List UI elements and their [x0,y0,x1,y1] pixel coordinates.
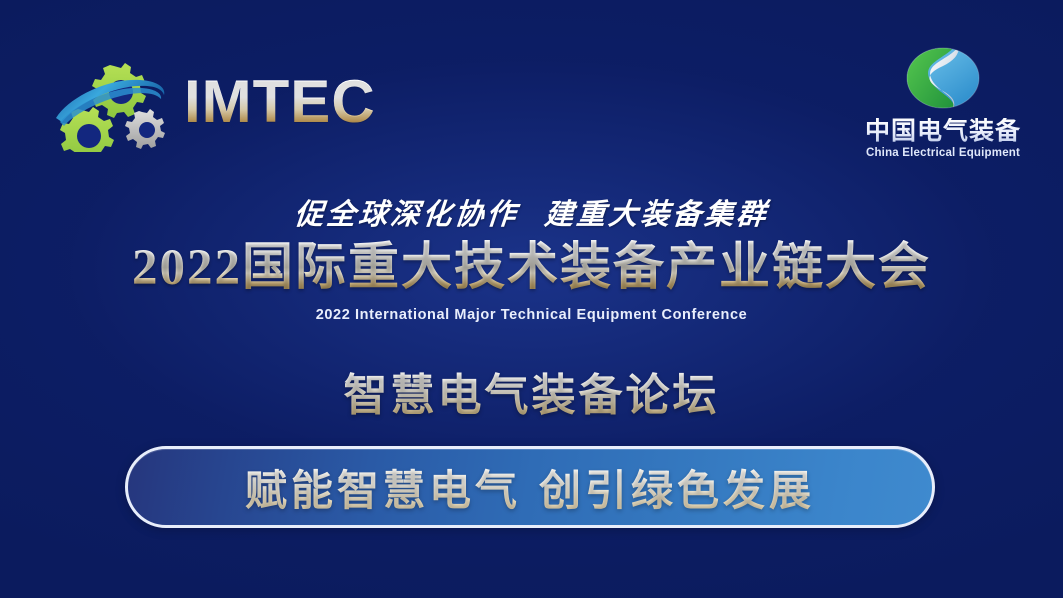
forum-title: 智慧电气装备论坛 [0,359,1063,423]
slogan-banner: 赋能智慧电气创引绿色发展 [125,446,935,528]
subtitle-english: 2022 International Major Technical Equip… [0,307,1063,323]
s-ellipse-icon [853,44,1033,114]
center-text-block: 促全球深化协作建重大装备集群 2022国际重大技术装备产业链大会 2022 In… [0,196,1063,423]
slogan-text: 赋能智慧电气创引绿色发展 [245,457,815,518]
imtec-wordmark: IMTEC [184,72,376,132]
tagline-left: 促全球深化协作 [293,197,520,231]
imtec-logo: IMTEC [52,52,376,152]
tagline-right: 建重大装备集群 [543,197,770,231]
slogan-part-2: 创引绿色发展 [539,469,815,515]
tagline: 促全球深化协作建重大装备集群 [0,196,1063,232]
gears-orbit-icon [52,52,170,152]
slogan-part-1: 赋能智慧电气 [245,469,521,515]
conference-banner: IMTEC [0,0,1063,598]
page-title: 2022国际重大技术装备产业链大会 [0,240,1063,297]
cee-name-cn: 中国电气装备 [853,118,1033,145]
china-electrical-equipment-logo: 中国电气装备 China Electrical Equipment [853,44,1033,159]
cee-name-en: China Electrical Equipment [853,147,1033,159]
